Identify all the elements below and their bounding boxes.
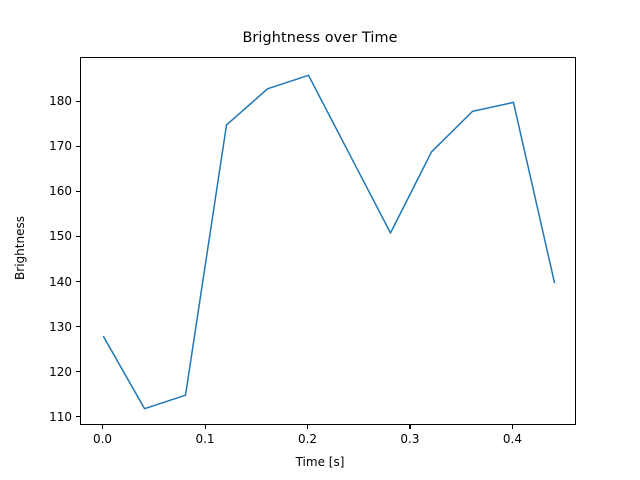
x-axis-label: Time [s] bbox=[0, 455, 640, 469]
x-tick-mark bbox=[409, 425, 410, 429]
matplotlib-figure: Brightness over Time 1101201301401501601… bbox=[0, 0, 640, 480]
x-axis-tick-labels: 0.00.10.20.30.4 bbox=[0, 432, 640, 452]
y-tick-mark bbox=[76, 326, 80, 327]
x-tick-label: 0.0 bbox=[93, 432, 112, 446]
y-tick-label: 150 bbox=[49, 229, 72, 243]
y-tick-label: 130 bbox=[49, 320, 72, 334]
y-tick-label: 170 bbox=[49, 139, 72, 153]
x-tick-mark bbox=[512, 425, 513, 429]
x-tick-label: 0.1 bbox=[195, 432, 214, 446]
y-tick-mark bbox=[76, 281, 80, 282]
y-tick-mark bbox=[76, 191, 80, 192]
plot-axes bbox=[80, 57, 576, 425]
y-tick-label: 110 bbox=[49, 410, 72, 424]
y-tick-label: 140 bbox=[49, 275, 72, 289]
x-tick-label: 0.2 bbox=[298, 432, 317, 446]
y-tick-mark bbox=[76, 416, 80, 417]
x-tick-label: 0.3 bbox=[400, 432, 419, 446]
y-tick-mark bbox=[76, 146, 80, 147]
brightness-line-series bbox=[104, 75, 555, 408]
x-tick-mark bbox=[307, 425, 308, 429]
x-tick-label: 0.4 bbox=[503, 432, 522, 446]
x-tick-mark bbox=[102, 425, 103, 429]
y-tick-label: 160 bbox=[49, 184, 72, 198]
y-tick-mark bbox=[76, 371, 80, 372]
line-chart-svg bbox=[81, 58, 577, 426]
y-tick-label: 120 bbox=[49, 365, 72, 379]
y-axis-label: Brightness bbox=[13, 128, 27, 368]
y-tick-mark bbox=[76, 101, 80, 102]
y-axis-tick-labels: 110120130140150160170180 bbox=[0, 0, 72, 480]
x-tick-mark bbox=[205, 425, 206, 429]
chart-title: Brightness over Time bbox=[0, 30, 640, 46]
y-tick-label: 180 bbox=[49, 94, 72, 108]
y-tick-mark bbox=[76, 236, 80, 237]
